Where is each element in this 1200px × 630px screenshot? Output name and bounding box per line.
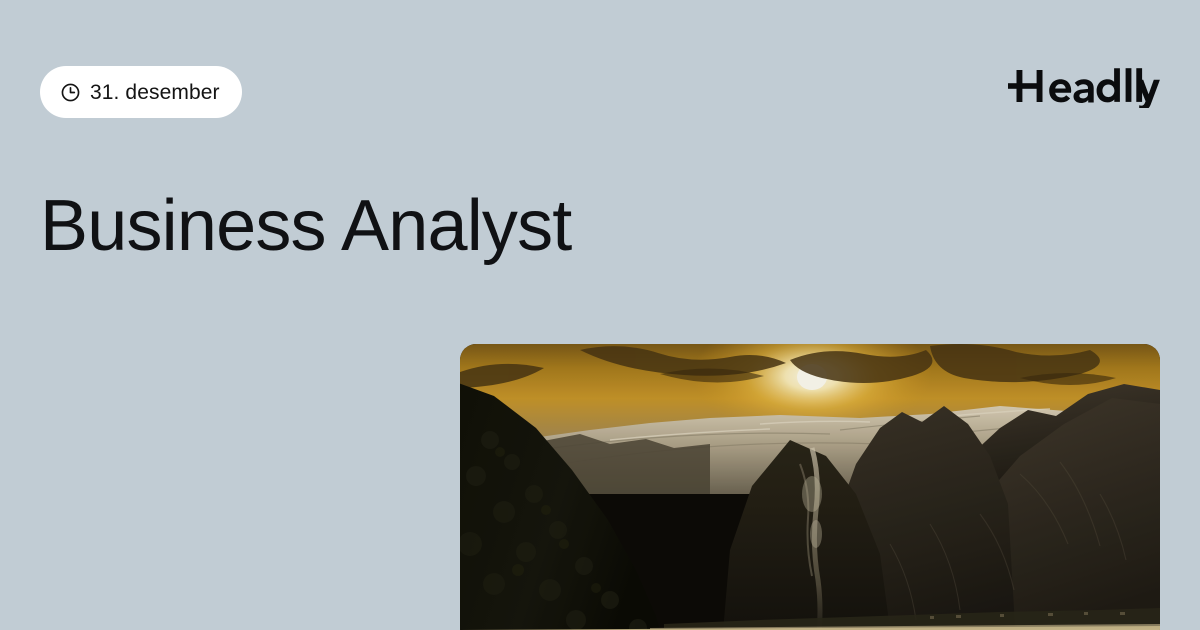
article-hero-image [460, 344, 1160, 630]
page-title: Business Analyst [40, 186, 800, 267]
date-badge: 31. desember [40, 66, 242, 118]
date-badge-label: 31. desember [90, 82, 220, 103]
social-share-card: 31. desember [0, 0, 1200, 630]
headly-logo[interactable] [1008, 64, 1160, 108]
clock-icon [60, 82, 81, 103]
